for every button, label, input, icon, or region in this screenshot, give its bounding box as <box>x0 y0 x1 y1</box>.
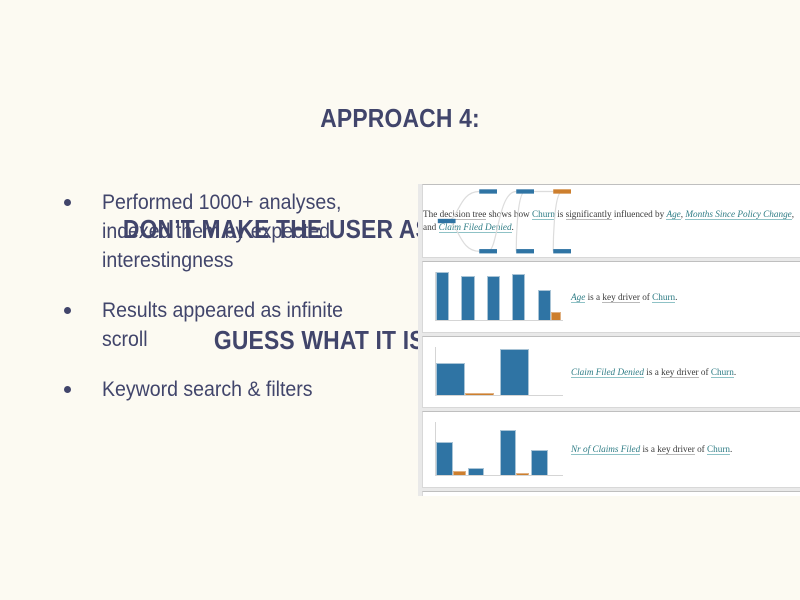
tree-node[interactable] <box>479 249 497 253</box>
chart-bar <box>468 468 485 475</box>
caption-field[interactable]: Months Since Policy Change <box>685 209 791 220</box>
caption-text: of <box>695 444 707 454</box>
chart-bar <box>453 471 466 475</box>
caption-text: is a <box>585 292 602 302</box>
tree-edge <box>447 221 480 251</box>
tree-edge <box>516 191 525 251</box>
bullet-dot-icon <box>64 199 71 206</box>
caption-text: is a <box>640 444 657 454</box>
list-item: Keyword search & filters <box>58 375 388 404</box>
caption-field[interactable]: Age <box>571 292 585 303</box>
tree-node[interactable] <box>516 249 534 253</box>
insight-card-decision-tree[interactable]: The decision tree shows how Churn is sig… <box>422 184 800 258</box>
bullet-dot-icon <box>64 307 71 314</box>
bar-chart-partial <box>423 492 571 496</box>
chart-bar <box>461 276 474 320</box>
chart-bar <box>436 363 465 395</box>
caption-field[interactable]: Age <box>666 209 680 220</box>
bullet-text: Keyword search & filters <box>102 375 368 404</box>
chart-bar <box>487 276 500 320</box>
caption-text: is a <box>644 367 661 377</box>
insight-caption: Claim Filed Denied is a key driver of Ch… <box>571 366 800 379</box>
bullet-dot-icon <box>64 386 71 393</box>
caption-field[interactable]: Nr of Claims Filed <box>571 444 640 455</box>
caption-target[interactable]: Churn <box>707 444 730 455</box>
caption-phrase[interactable]: key driver <box>661 367 699 378</box>
list-item: Performed 1000+ analyses, indexed them b… <box>58 188 388 275</box>
caption-phrase[interactable]: significantly <box>566 209 612 220</box>
chart-bar <box>531 450 548 475</box>
title-line-1: APPROACH 4: <box>48 100 752 137</box>
bar-group <box>436 422 468 475</box>
caption-field[interactable]: Claim Filed Denied <box>571 367 644 378</box>
tree-node[interactable] <box>553 249 571 253</box>
chart-bar <box>512 274 525 320</box>
bullet-text: Results appeared as infinite scroll <box>102 296 368 354</box>
chart-bar <box>500 430 517 475</box>
tree-node[interactable] <box>479 189 497 193</box>
chart-bar <box>551 312 562 320</box>
insight-caption: Nr of Claims Filed is a key driver of Ch… <box>571 443 800 456</box>
insight-card-partial-next[interactable] <box>422 491 800 496</box>
caption-text: influenced by <box>612 209 667 219</box>
bar-chart-age <box>423 262 571 332</box>
caption-text: . <box>734 367 736 377</box>
insight-card-claim-filed-denied[interactable]: Claim Filed Denied is a key driver of Ch… <box>422 336 800 408</box>
bar-group <box>500 347 564 395</box>
tree-edge <box>553 191 562 251</box>
bar-group <box>487 272 512 320</box>
bar-group <box>468 422 500 475</box>
chart-bar <box>516 473 529 475</box>
caption-target[interactable]: Churn <box>652 292 675 303</box>
tree-node[interactable] <box>553 189 571 193</box>
decision-tree-diagram <box>423 185 571 257</box>
bullet-text: Performed 1000+ analyses, indexed them b… <box>102 188 368 275</box>
caption-text: . <box>675 292 677 302</box>
caption-target[interactable]: Churn <box>711 367 734 378</box>
bar-group <box>436 347 500 395</box>
bullet-list: Performed 1000+ analyses, indexed them b… <box>58 188 388 425</box>
insight-card-age[interactable]: Age is a key driver of Churn. <box>422 261 800 333</box>
tree-node[interactable] <box>516 189 534 193</box>
bar-group <box>500 422 532 475</box>
chart-bar <box>436 442 453 475</box>
caption-text: of <box>640 292 652 302</box>
bar-group <box>512 272 537 320</box>
bar-chart-nr-of-claims-filed <box>423 412 571 487</box>
insight-card-nr-of-claims-filed[interactable]: Nr of Claims Filed is a key driver of Ch… <box>422 411 800 488</box>
caption-phrase[interactable]: key driver <box>602 292 640 303</box>
bar-group <box>461 272 486 320</box>
bar-chart-claim-filed-denied <box>423 337 571 407</box>
chart-bar <box>436 272 449 320</box>
tree-edge <box>488 191 516 251</box>
bar-group <box>538 272 563 320</box>
insight-feed-panel[interactable]: The decision tree shows how Churn is sig… <box>418 184 800 496</box>
chart-bar <box>538 290 551 320</box>
bar-group <box>531 422 563 475</box>
chart-bar <box>500 349 529 395</box>
chart-bar <box>465 393 494 395</box>
tree-node[interactable] <box>438 219 456 223</box>
insight-caption: Age is a key driver of Churn. <box>571 291 800 304</box>
caption-text: . <box>730 444 732 454</box>
tree-edge <box>447 191 480 221</box>
caption-phrase[interactable]: key driver <box>657 444 695 455</box>
caption-text: of <box>699 367 711 377</box>
bar-group <box>436 272 461 320</box>
list-item: Results appeared as infinite scroll <box>58 296 388 354</box>
